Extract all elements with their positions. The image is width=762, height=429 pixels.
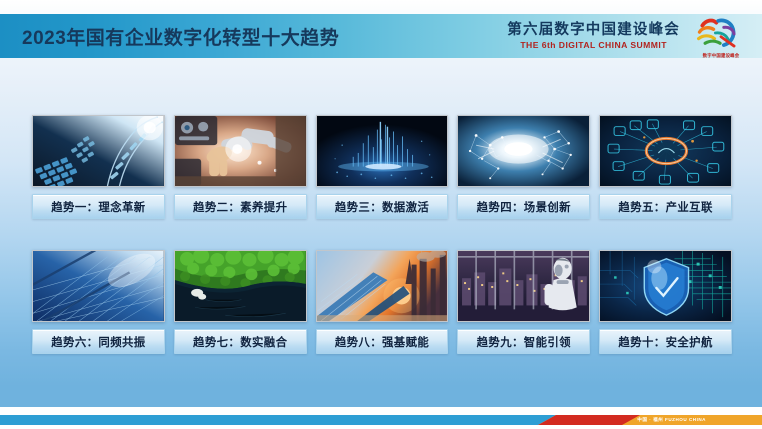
trend-card-5: 趋势五：产业互联: [599, 115, 732, 219]
trend-card-label: 趋势三：数据激活: [316, 194, 449, 219]
robot-night-city-image: [457, 250, 590, 322]
trend-card-label: 趋势六：同频共振: [32, 329, 165, 354]
trend-card-7: 趋势七：数实融合: [174, 250, 307, 354]
trend-card-9: 趋势九：智能引领: [457, 250, 590, 354]
trend-card-label: 趋势八：强基赋能: [316, 329, 449, 354]
summit-brand: 第六届数字中国建设峰会 THE 6th DIGITAL CHINA SUMMIT: [507, 23, 680, 49]
solar-panels-sunset-image: [316, 250, 449, 322]
summit-name-cn: 第六届数字中国建设峰会: [507, 23, 680, 38]
digital-china-summit-logo: 数字中国建设峰会: [690, 11, 752, 61]
green-forest-water-image: [174, 250, 307, 322]
security-shield-circuit-image: [599, 250, 732, 322]
trend-card-6: 趋势六：同频共振: [32, 250, 165, 354]
slide-header-bar: 2023年国有企业数字化转型十大趋势 第六届数字中国建设峰会 THE 6th D…: [0, 14, 762, 58]
trend-card-grid: 趋势一：理念革新: [32, 115, 732, 354]
summit-logo-caption: 数字中国建设峰会: [703, 53, 740, 59]
slide-footer: 中国 · 福州 FUZHOU CHINA: [0, 407, 762, 429]
robotic-control-hands-image: [174, 115, 307, 187]
trend-card-label: 趋势四：场景创新: [457, 194, 590, 219]
trend-card-4: 趋势四：场景创新: [457, 115, 590, 219]
trend-card-8: 趋势八：强基赋能: [316, 250, 449, 354]
trend-card-label: 趋势九：智能引领: [457, 329, 590, 354]
network-light-burst-image: [457, 115, 590, 187]
trend-card-label: 趋势十：安全护航: [599, 329, 732, 354]
trend-card-1[interactable]: 趋势一：理念革新: [32, 115, 165, 219]
footer-location-text: 中国 · 福州 FUZHOU CHINA: [637, 416, 706, 424]
trend-card-label: 趋势一：理念革新: [32, 194, 165, 219]
trend-card-3: 趋势三：数据激活: [316, 115, 449, 219]
trend-card-label: 趋势二：素养提升: [174, 194, 307, 219]
digital-helix-keyboard-image: [32, 115, 165, 187]
data-light-rays-image: [316, 115, 449, 187]
trend-card-label: 趋势五：产业互联: [599, 194, 732, 219]
industrial-network-hub-image: [599, 115, 732, 187]
trend-card-label: 趋势七：数实融合: [174, 329, 307, 354]
trend-card-2[interactable]: 趋势二：素养提升: [174, 115, 307, 219]
page-title: 2023年国有企业数字化转型十大趋势: [22, 23, 339, 50]
summit-name-en: THE 6th DIGITAL CHINA SUMMIT: [507, 40, 680, 49]
trend-card-10: 趋势十：安全护航: [599, 250, 732, 354]
slide-canvas: 2023年国有企业数字化转型十大趋势 第六届数字中国建设峰会 THE 6th D…: [0, 0, 762, 429]
solar-panel-array-image: [32, 250, 165, 322]
